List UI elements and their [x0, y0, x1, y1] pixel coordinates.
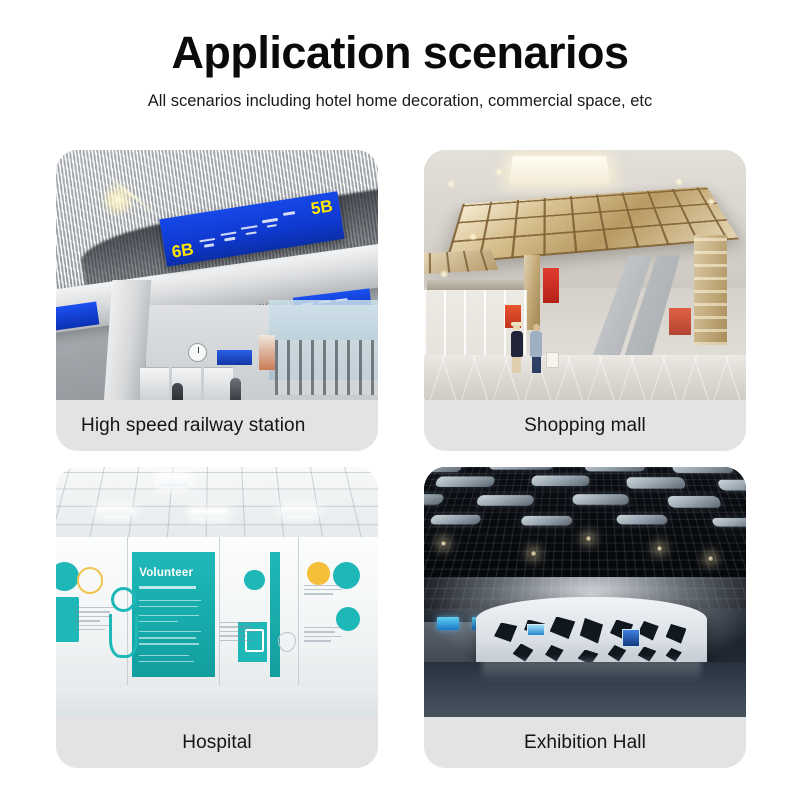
yellow-circle-icon [307, 562, 330, 585]
ticket-gates [275, 340, 378, 395]
card-caption: Exhibition Hall [424, 717, 746, 768]
wall-display-screen [437, 617, 460, 630]
card-caption: Shopping mall [424, 400, 746, 451]
page-header: Application scenarios All scenarios incl… [0, 0, 800, 112]
teal-accent-stripe [270, 552, 280, 677]
ceiling-light [98, 507, 133, 515]
hospital-photo: Volunteer [56, 467, 378, 717]
downlight-icon [447, 180, 455, 188]
volunteer-panel-title: Volunteer [139, 567, 193, 579]
spotlight-icon [530, 550, 537, 557]
wall-divider [219, 537, 221, 687]
page-subtitle: All scenarios including hotel home decor… [0, 92, 800, 112]
ceiling-light [281, 507, 316, 515]
ceiling-light [191, 510, 226, 518]
spotlight-icon [656, 545, 663, 552]
blue-wayfinding-sign [217, 350, 252, 365]
floor-reflection [482, 660, 701, 683]
exhibition-hall-photo [424, 467, 746, 717]
scenario-card-shopping-mall[interactable]: Shopping mall [424, 150, 746, 451]
shopper-figure [530, 324, 542, 373]
spotlight-icon [585, 535, 592, 542]
shopping-mall-photo [424, 150, 746, 400]
recessed-skylight [509, 156, 609, 183]
volunteer-panel-subtitle-bar [139, 586, 196, 589]
traveller-figure [230, 378, 241, 401]
ticket-kiosk [204, 367, 233, 401]
red-banner-sign [543, 268, 559, 303]
wall-text-block [304, 585, 346, 598]
floor-tile-pattern [424, 355, 746, 400]
wall-text-block [304, 627, 346, 645]
volunteer-panel: Volunteer [132, 552, 216, 677]
scenario-card-exhibition-hall[interactable]: Exhibition Hall [424, 467, 746, 768]
embedded-display-screen [622, 629, 640, 648]
wall-text-block [75, 607, 117, 633]
wall-text-block [220, 622, 262, 644]
downlight-icon [675, 178, 683, 186]
platform-number-6b: 6B [171, 241, 195, 261]
downlight-icon [469, 233, 477, 241]
red-banner-sign [669, 308, 692, 336]
spotlight-icon [440, 540, 447, 547]
traveller-figure [172, 383, 183, 401]
platform-number-5b: 5B [310, 197, 334, 217]
embedded-display-screen [527, 624, 545, 636]
outline-circle-icon [77, 567, 104, 594]
wall-clock-icon [188, 343, 207, 362]
shopper-figure [511, 322, 523, 373]
hospital-floor [56, 685, 378, 718]
card-caption: High speed railway station [56, 400, 378, 451]
page-title: Application scenarios [0, 28, 800, 78]
ticket-kiosk [140, 367, 169, 401]
wall-divider [298, 537, 300, 687]
scenario-card-hospital[interactable]: Volunteer [56, 467, 378, 768]
downlight-icon [495, 168, 503, 176]
shopping-bag-icon [546, 352, 559, 368]
scenario-cards-grid: 6B 5B [56, 150, 746, 768]
scenario-card-high-speed-railway-station[interactable]: 6B 5B [56, 150, 378, 451]
railway-station-photo: 6B 5B [56, 150, 378, 400]
decorative-pillar [694, 235, 726, 345]
ceiling-light [159, 475, 188, 488]
application-scenarios-page: Application scenarios All scenarios incl… [0, 0, 800, 800]
downlight-icon [707, 198, 715, 206]
advert-poster [259, 335, 275, 370]
spotlight-icon [707, 555, 714, 562]
ceiling-light-panels [424, 467, 746, 588]
card-caption: Hospital [56, 717, 378, 768]
ceiling-light-glow-icon [101, 183, 135, 217]
